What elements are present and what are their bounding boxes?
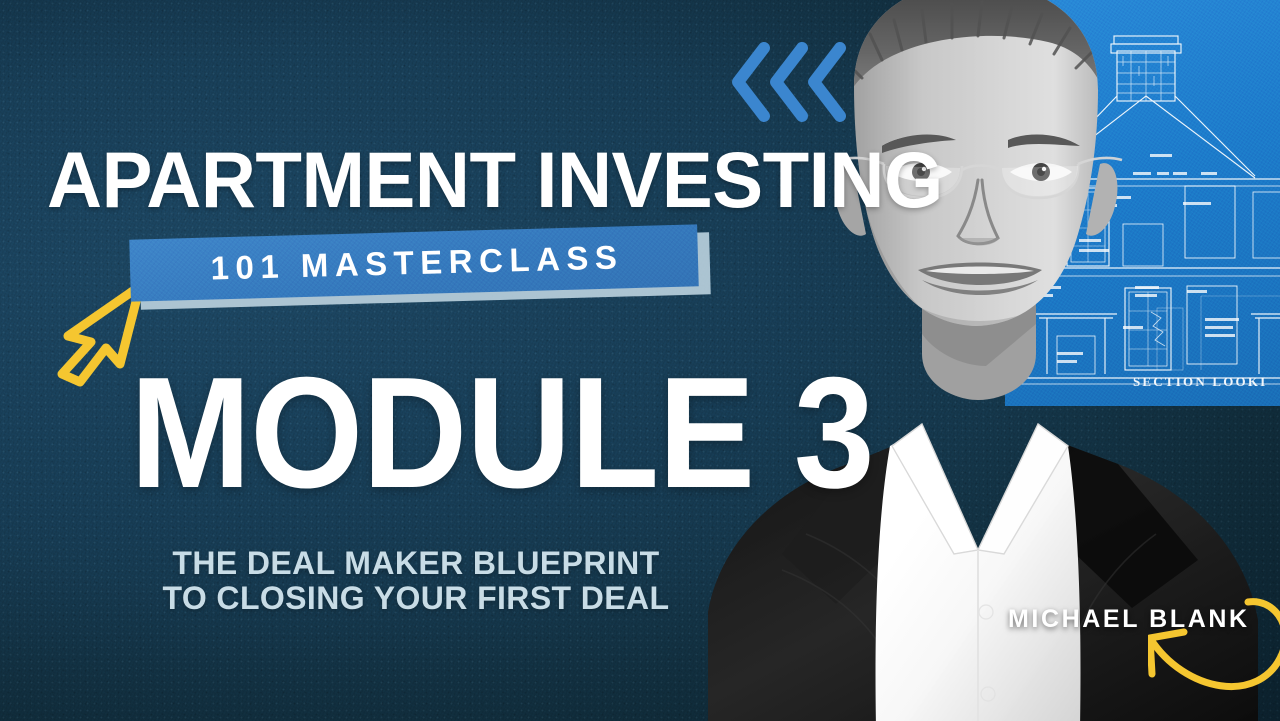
module-subtitle: THE DEAL MAKER BLUEPRINT TO CLOSING YOUR… xyxy=(116,546,716,616)
subtitle-line-1: THE DEAL MAKER BLUEPRINT xyxy=(116,546,716,581)
module-heading: MODULE 3 xyxy=(130,362,874,504)
subtitle-line-2: TO CLOSING YOUR FIRST DEAL xyxy=(116,581,716,616)
page-title: APARTMENT INVESTING xyxy=(47,143,943,216)
masterclass-banner: 101 MASTERCLASS xyxy=(126,228,726,328)
thumbnail-canvas: SECTION LOOKI xyxy=(0,0,1280,721)
curved-arrow-left-icon xyxy=(1148,596,1280,721)
